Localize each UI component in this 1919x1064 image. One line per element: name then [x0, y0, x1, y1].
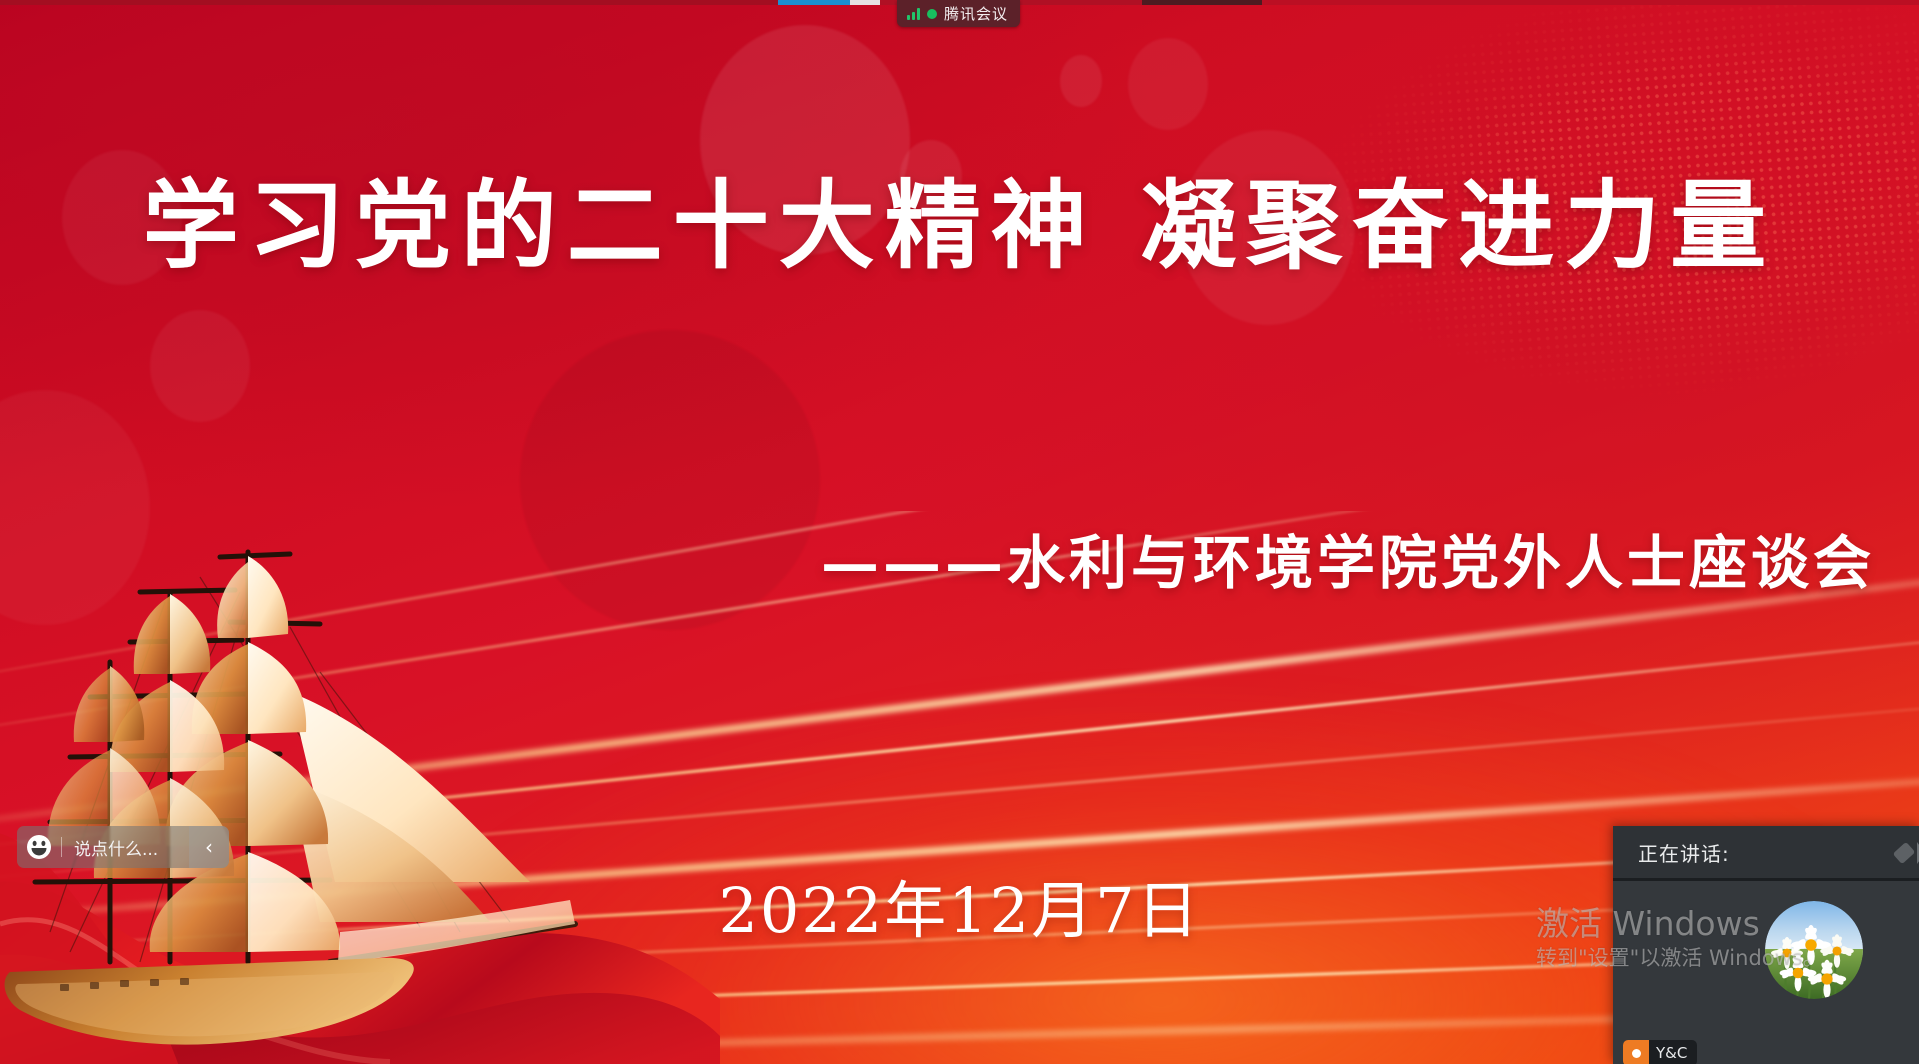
strip-red-right: [1262, 0, 1919, 5]
tencent-meeting-badge[interactable]: 腾讯会议: [897, 0, 1020, 27]
chevron-left-icon[interactable]: ‹: [189, 826, 229, 868]
strip-red-left: [0, 0, 778, 5]
smiley-face-icon[interactable]: [17, 826, 61, 868]
participant-name-tag: Y&C: [1623, 1040, 1697, 1064]
decorative-bubble: [1128, 38, 1208, 130]
collapse-arrow-icon[interactable]: [1891, 836, 1919, 870]
participant-name: Y&C: [1649, 1044, 1697, 1062]
strip-blue: [778, 0, 850, 5]
microphone-active-icon: [1623, 1040, 1649, 1064]
speaker-video-panel[interactable]: 正在讲话:: [1613, 826, 1919, 1064]
strip-white: [850, 0, 880, 5]
chat-input-bar[interactable]: 说点什么... ‹: [17, 826, 229, 868]
daisy-flowers-avatar: [1765, 901, 1863, 999]
screen: 学习党的二十大精神 凝聚奋进力量 ———水利与环境学院党外人士座谈会 2022年…: [0, 0, 1919, 1064]
green-status-dot-icon: [927, 9, 937, 19]
speaker-panel-title: 正在讲话:: [1638, 838, 1730, 867]
slide-title: 学习党的二十大精神 凝聚奋进力量: [0, 178, 1919, 274]
strip-dark: [1142, 0, 1262, 5]
chat-input-placeholder[interactable]: 说点什么...: [62, 835, 189, 860]
speaker-video-area[interactable]: Y&C: [1613, 881, 1919, 1064]
decorative-bubble: [150, 310, 250, 422]
tencent-meeting-label: 腾讯会议: [944, 3, 1008, 24]
signal-bars-icon: [907, 8, 920, 20]
speaker-panel-header: 正在讲话:: [1613, 826, 1919, 878]
decorative-bubble: [0, 390, 150, 625]
slide-subtitle: ———水利与环境学院党外人士座谈会: [821, 516, 1875, 600]
decorative-bubble: [1060, 55, 1102, 107]
